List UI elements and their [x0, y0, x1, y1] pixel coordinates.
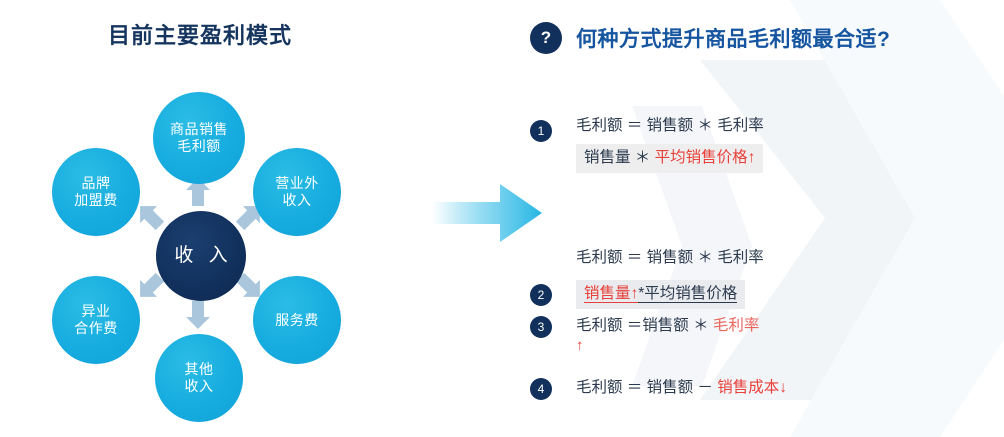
formula-body: 毛利额 ＝ 销售额 ＊ 毛利率 销售量 ＊ 平均销售价格↑ — [576, 114, 764, 173]
formula-number-badge: 2 — [530, 284, 552, 306]
formula-item-4[interactable]: 4 毛利额 ＝ 销售额 － 销售成本↓ — [530, 376, 787, 400]
question-title: 何种方式提升商品毛利额最合适? — [576, 23, 890, 53]
formula-line-primary: 毛利额 ＝ 销售额 ＊ 毛利率 — [576, 114, 764, 138]
formula-red-part: 销售成本↓ — [717, 379, 787, 396]
question-header: ? 何种方式提升商品毛利额最合适? — [530, 22, 890, 54]
formula-body: 毛利额 ＝ 销售额 － 销售成本↓ — [576, 376, 787, 400]
formula-red-part: 平均销售价格↑ — [655, 149, 756, 166]
formula-plain-part: *平均销售价格 — [638, 285, 737, 303]
formula-line-primary: 毛利额 ＝销售额 ＊ 毛利率 — [576, 314, 759, 338]
formula-line-highlight: 销售量↑*平均销售价格 — [576, 280, 745, 309]
node-brand-franchise-fee[interactable]: 品牌 加盟费 — [52, 148, 140, 236]
node-label-line2: 加盟费 — [74, 192, 118, 209]
formula-number-badge: 4 — [530, 378, 552, 400]
formula-number-badge: 1 — [530, 120, 552, 142]
question-mark-icon: ? — [530, 22, 562, 54]
page-title: 目前主要盈利模式 — [108, 18, 292, 50]
node-label-line1: 商品销售 — [170, 121, 228, 138]
formula-number-badge: 3 — [530, 316, 552, 338]
node-other-income[interactable]: 其他 收入 — [155, 334, 243, 422]
node-label-line1: 服务费 — [275, 312, 319, 329]
formula-body: 毛利额 ＝销售额 ＊ 毛利率 ↑ — [576, 314, 759, 357]
node-label-line2: 毛利额 — [177, 138, 221, 155]
formula-line-primary: 毛利额 ＝ 销售额 － 销售成本↓ — [576, 376, 787, 400]
formula-item-3[interactable]: 3 毛利额 ＝销售额 ＊ 毛利率 ↑ — [530, 314, 759, 357]
node-product-sales-gross-profit[interactable]: 商品销售 毛利额 — [153, 92, 245, 184]
node-cross-industry-cooperation-fee[interactable]: 异业 合作费 — [52, 276, 140, 364]
node-label-line1: 营业外 — [275, 175, 319, 192]
node-label-line2: 合作费 — [74, 320, 118, 337]
right-panel: ? 何种方式提升商品毛利额最合适? 1 毛利额 ＝ 销售额 ＊ 毛利率 销售量 … — [520, 0, 1004, 437]
formula-body: 毛利额 ＝ 销售额 ＊ 毛利率 销售量↑*平均销售价格 — [576, 246, 764, 309]
node-label-line1: 品牌 — [82, 175, 111, 192]
formula-red-part: 毛利率 — [713, 317, 760, 334]
formula-line-primary: 毛利额 ＝ 销售额 ＊ 毛利率 — [576, 246, 764, 270]
formula-plain-part: 销售量 ＊ — [584, 149, 655, 166]
node-non-operating-income[interactable]: 营业外 收入 — [253, 148, 341, 236]
arrow-down-icon — [181, 298, 215, 332]
formula-line-highlight: 销售量 ＊ 平均销售价格↑ — [576, 144, 763, 173]
slide-canvas: 目前主要盈利模式 商品销售 毛利额 — [0, 0, 1004, 437]
formula-item-2[interactable]: 2 毛利额 ＝ 销售额 ＊ 毛利率 销售量↑*平均销售价格 — [530, 246, 764, 309]
node-service-fee[interactable]: 服务费 — [253, 276, 341, 364]
formula-plain-part: 毛利额 ＝销售额 ＊ — [576, 317, 713, 334]
node-label-line1: 异业 — [82, 303, 111, 320]
node-center-label: 收 入 — [169, 245, 232, 267]
formula-plain-part: 毛利额 ＝ 销售额 － — [576, 379, 717, 396]
revenue-model-diagram: 商品销售 毛利额 营业外 收入 服务费 其他 收入 异业 合作费 品牌 加盟费 — [20, 80, 400, 430]
node-label-line2: 收入 — [283, 192, 312, 209]
node-revenue-center[interactable]: 收 入 — [156, 211, 246, 301]
node-label-line1: 其他 — [185, 361, 214, 378]
left-panel: 目前主要盈利模式 商品销售 毛利额 — [0, 0, 430, 437]
node-label-line2: 收入 — [185, 378, 214, 395]
formula-red-part: 销售量↑ — [584, 285, 638, 303]
formula-item-1[interactable]: 1 毛利额 ＝ 销售额 ＊ 毛利率 销售量 ＊ 平均销售价格↑ — [530, 114, 764, 173]
